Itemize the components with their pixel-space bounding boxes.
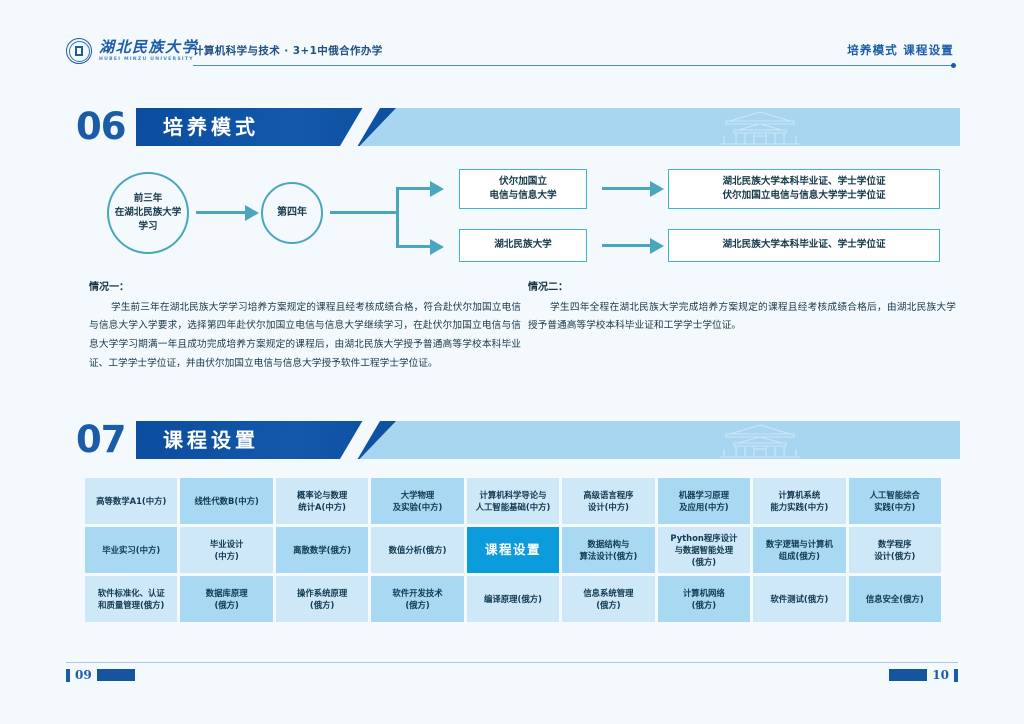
flow-line-4: [602, 244, 652, 247]
flow-box-3-label: 湖北民族大学本科毕业证、学士学位证 伏尔加国立电信与信息大学学士学位证: [722, 175, 885, 204]
course-cell[interactable]: 数据结构与 算法设计(俄方): [562, 527, 654, 573]
page-number-right-value: 10: [929, 668, 952, 682]
header-nav-label: 培养模式 课程设置: [847, 42, 954, 58]
brochure-page: 湖北民族大学 HUBEI MINZU UNIVERSITY 计算机科学与技术 ·…: [0, 0, 1024, 724]
case-two-body: 学生四年全程在湖北民族大学完成培养方案规定的课程且经考核成绩合格后，由湖北民族大…: [528, 299, 956, 337]
course-cell-label: 计算机科学导论与 人工智能基础(中方): [476, 489, 551, 513]
flow-arrowhead-1: [245, 205, 259, 221]
flow-arrowhead-3: [430, 239, 444, 255]
section-number-06: 06: [76, 104, 126, 150]
flow-line-3: [602, 187, 652, 190]
course-cell-label: 离散数学(俄方): [293, 544, 351, 556]
case-one-heading: 情况一：: [89, 278, 521, 298]
flow-box-dual-degree-result: 湖北民族大学本科毕业证、学士学位证 伏尔加国立电信与信息大学学士学位证: [668, 169, 940, 209]
course-cell-label: 线性代数B(中方): [195, 495, 259, 507]
course-cell-label: 课程设置: [485, 541, 541, 559]
course-cell[interactable]: 高级语言程序 设计(中方): [562, 478, 654, 524]
course-cell[interactable]: 数值分析(俄方): [371, 527, 463, 573]
flow-line-split-bottom: [396, 245, 432, 248]
course-cell[interactable]: 信息系统管理 (俄方): [562, 576, 654, 622]
flow-arrowhead-5: [650, 238, 664, 254]
flow-line-2: [330, 211, 398, 214]
course-cell-label: 高等数学A1(中方): [96, 495, 166, 507]
case-two-block: 情况二： 学生四年全程在湖北民族大学完成培养方案规定的课程且经考核成绩合格后，由…: [528, 278, 956, 336]
page-bar-left-icon: [97, 669, 135, 681]
case-one-body: 学生前三年在湖北民族大学学习培养方案规定的课程且经考核成绩合格，符合赴伏尔加国立…: [89, 299, 521, 375]
course-cell[interactable]: 毕业设计 (中方): [180, 527, 272, 573]
course-cell-label: 数字逻辑与计算机 组成(俄方): [766, 538, 833, 562]
course-cell[interactable]: 计算机网络 (俄方): [658, 576, 750, 622]
course-cell[interactable]: 编译原理(俄方): [467, 576, 559, 622]
course-cell-label: 数据库原理 (俄方): [206, 587, 248, 611]
section-title-07: 课程设置: [163, 421, 259, 459]
course-cell[interactable]: 高等数学A1(中方): [85, 478, 177, 524]
course-cell[interactable]: 机器学习原理 及应用(中方): [658, 478, 750, 524]
course-cell-label: 毕业设计 (中方): [210, 538, 244, 562]
university-name-en: HUBEI MINZU UNIVERSITY: [99, 58, 198, 63]
flow-line-split-top: [396, 187, 432, 190]
course-cell-label: 计算机系统 能力实践(中方): [770, 489, 828, 513]
flow-circle-2-label: 第四年: [277, 206, 307, 221]
course-cell[interactable]: 离散数学(俄方): [276, 527, 368, 573]
training-model-flowchart: 前三年 在湖北民族大学 学习 第四年 伏尔加国立 电信与信息大学 湖北民族大学 …: [0, 160, 1024, 270]
course-cell[interactable]: 大学物理 及实验(中方): [371, 478, 463, 524]
course-cell[interactable]: 人工智能综合 实践(中方): [849, 478, 941, 524]
course-cell[interactable]: 线性代数B(中方): [180, 478, 272, 524]
flow-box-hubei-university: 湖北民族大学: [459, 229, 587, 262]
page-tick-right-icon: [954, 669, 958, 682]
header-divider: [193, 65, 953, 66]
university-name-cn: 湖北民族大学: [99, 40, 198, 55]
flow-arrowhead-4: [650, 181, 664, 197]
case-two-heading: 情况二：: [528, 278, 956, 298]
page-number-left: 09: [66, 668, 135, 682]
course-cell[interactable]: 数字逻辑与计算机 组成(俄方): [753, 527, 845, 573]
course-cell[interactable]: 软件开发技术 (俄方): [371, 576, 463, 622]
university-seal-icon: [66, 38, 92, 64]
course-cell[interactable]: 计算机科学导论与 人工智能基础(中方): [467, 478, 559, 524]
flow-box-4-label: 湖北民族大学本科毕业证、学士学位证: [722, 238, 885, 252]
section-banner-06: 06 培养模式: [0, 104, 1024, 150]
course-cell[interactable]: 数学程序 设计(俄方): [849, 527, 941, 573]
course-cell-label: 操作系统原理 (俄方): [297, 587, 347, 611]
course-cell-label: 数学程序 设计(俄方): [874, 538, 915, 562]
course-cell-label: 软件测试(俄方): [770, 593, 828, 605]
flow-box-volga-university: 伏尔加国立 电信与信息大学: [459, 169, 587, 209]
section-number-07: 07: [76, 417, 126, 463]
course-cell-label: 概率论与数理 统计A(中方): [297, 489, 347, 513]
section-banner-07: 07 课程设置: [0, 417, 1024, 463]
course-cell[interactable]: 数据库原理 (俄方): [180, 576, 272, 622]
course-cell[interactable]: 概率论与数理 统计A(中方): [276, 478, 368, 524]
page-number-right: 10: [889, 668, 958, 682]
course-cell-label: 毕业实习(中方): [102, 544, 160, 556]
course-cell-label: 机器学习原理 及应用(中方): [679, 489, 729, 513]
course-cell-label: 编译原理(俄方): [484, 593, 542, 605]
flow-arrowhead-2: [430, 181, 444, 197]
course-cell-label: 高级语言程序 设计(中方): [583, 489, 633, 513]
flow-box-1-label: 伏尔加国立 电信与信息大学: [489, 175, 556, 204]
flow-circle-1-label: 前三年 在湖北民族大学 学习: [115, 192, 182, 233]
flow-circle-first-three-years: 前三年 在湖北民族大学 学习: [107, 172, 189, 254]
course-cell-label: 信息系统管理 (俄方): [583, 587, 633, 611]
course-cell-label: 大学物理 及实验(中方): [393, 489, 443, 513]
flow-line-1: [196, 211, 246, 214]
flow-box-single-degree-result: 湖北民族大学本科毕业证、学士学位证: [668, 229, 940, 262]
flow-line-split: [396, 188, 399, 247]
course-cell-label: 软件标准化、认证 和质量管理(俄方): [98, 587, 165, 611]
course-cell[interactable]: Python程序设计 与数据智能处理 (俄方): [658, 527, 750, 573]
course-cell[interactable]: 软件标准化、认证 和质量管理(俄方): [85, 576, 177, 622]
case-one-block: 情况一： 学生前三年在湖北民族大学学习培养方案规定的课程且经考核成绩合格，符合赴…: [89, 278, 521, 374]
flow-box-2-label: 湖北民族大学: [494, 238, 552, 252]
section-title-06: 培养模式: [163, 108, 259, 146]
course-cell-label: 人工智能综合 实践(中方): [870, 489, 920, 513]
course-cell[interactable]: 毕业实习(中方): [85, 527, 177, 573]
course-cell-label: 计算机网络 (俄方): [683, 587, 725, 611]
flow-circle-fourth-year: 第四年: [261, 182, 323, 244]
page-header: 湖北民族大学 HUBEI MINZU UNIVERSITY 计算机科学与技术 ·…: [0, 0, 1024, 80]
course-cell-label: Python程序设计 与数据智能处理 (俄方): [670, 532, 737, 569]
page-number-left-value: 09: [72, 668, 95, 682]
university-logo: 湖北民族大学 HUBEI MINZU UNIVERSITY: [66, 38, 198, 64]
course-cell-label: 数据结构与 算法设计(俄方): [579, 538, 637, 562]
footer-divider: [66, 662, 958, 663]
course-cell-highlighted[interactable]: 课程设置: [467, 527, 559, 573]
course-cell[interactable]: 软件测试(俄方): [753, 576, 845, 622]
course-cell[interactable]: 操作系统原理 (俄方): [276, 576, 368, 622]
course-cell-label: 数值分析(俄方): [389, 544, 447, 556]
course-cell-label: 软件开发技术 (俄方): [392, 587, 442, 611]
course-cell[interactable]: 信息安全(俄方): [849, 576, 941, 622]
header-subtitle: 计算机科学与技术 · 3+1中俄合作办学: [193, 43, 383, 58]
page-tick-left-icon: [66, 669, 70, 682]
course-table: 高等数学A1(中方)线性代数B(中方)概率论与数理 统计A(中方)大学物理 及实…: [85, 478, 941, 622]
page-bar-right-icon: [889, 669, 927, 681]
course-cell[interactable]: 计算机系统 能力实践(中方): [753, 478, 845, 524]
course-cell-label: 信息安全(俄方): [866, 593, 924, 605]
